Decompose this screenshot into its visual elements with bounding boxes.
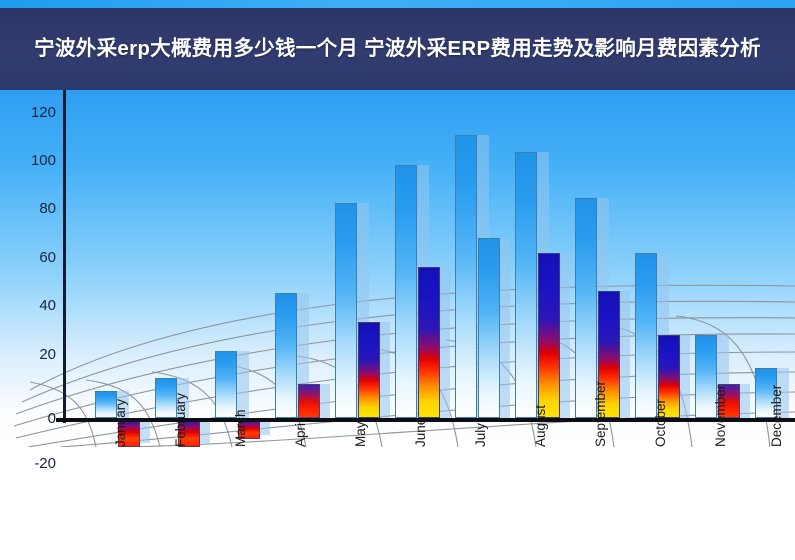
title-banner: 宁波外采erp大概费用多少钱一个月 宁波外采ERP费用走势及影响月费因素分析 [0,8,795,90]
y-tick-40: 40 [12,297,56,314]
y-axis-labels: 120 100 80 60 40 20 0 [0,90,56,447]
bar-group-june [392,90,446,447]
x-label-september: September [593,381,608,447]
y-tick-100: 100 [12,152,56,169]
y-tick-80: 80 [12,200,56,217]
x-label-august: August [533,405,548,447]
chart-plot-area: 120 100 80 60 40 20 0 [0,90,795,447]
top-accent-bar [0,0,795,8]
x-label-july: July [473,423,488,447]
y-tick-120: 120 [12,104,56,121]
x-label-november: November [713,385,728,447]
bar-group-may [332,90,386,447]
y-tick-60: 60 [12,249,56,266]
bars-layer [0,90,795,447]
bar-group-april [272,90,326,447]
y-tick-20: 20 [12,346,56,363]
x-label-december: December [769,385,784,447]
bar-august-series1[interactable] [515,152,537,418]
x-label-may: May [353,421,368,447]
x-axis-labels: January February March April May June Ju… [0,447,795,560]
bar-july-series1[interactable] [455,135,477,418]
bar-group-july [452,90,506,447]
y-axis-line [63,90,66,423]
bar-group-january [92,90,146,447]
bar-group-march [212,90,266,447]
bar-may-series1[interactable] [335,203,357,418]
chart-page: 宁波外采erp大概费用多少钱一个月 宁波外采ERP费用走势及影响月费因素分析 [0,0,795,560]
bar-group-october [632,90,686,447]
x-label-june: June [413,418,428,447]
x-label-october: October [653,399,668,447]
bar-august-series2[interactable] [538,253,560,418]
page-title: 宁波外采erp大概费用多少钱一个月 宁波外采ERP费用走势及影响月费因素分析 [28,34,768,64]
bar-march-series1[interactable] [215,351,237,418]
bar-october-series1[interactable] [635,253,657,418]
bar-june-series1[interactable] [395,165,417,418]
x-label-march: March [233,409,248,447]
x-label-april: April [293,420,308,447]
y-tick-0: 0 [12,410,56,427]
bar-group-august [512,90,566,447]
x-label-february: February [173,393,188,447]
bar-april-series1[interactable] [275,293,297,418]
bar-june-series2[interactable] [418,267,440,418]
bar-may-series2[interactable] [358,322,380,418]
bar-april-series2[interactable] [298,384,320,418]
bar-july-series2[interactable] [478,238,500,418]
x-label-january: January [113,399,128,447]
